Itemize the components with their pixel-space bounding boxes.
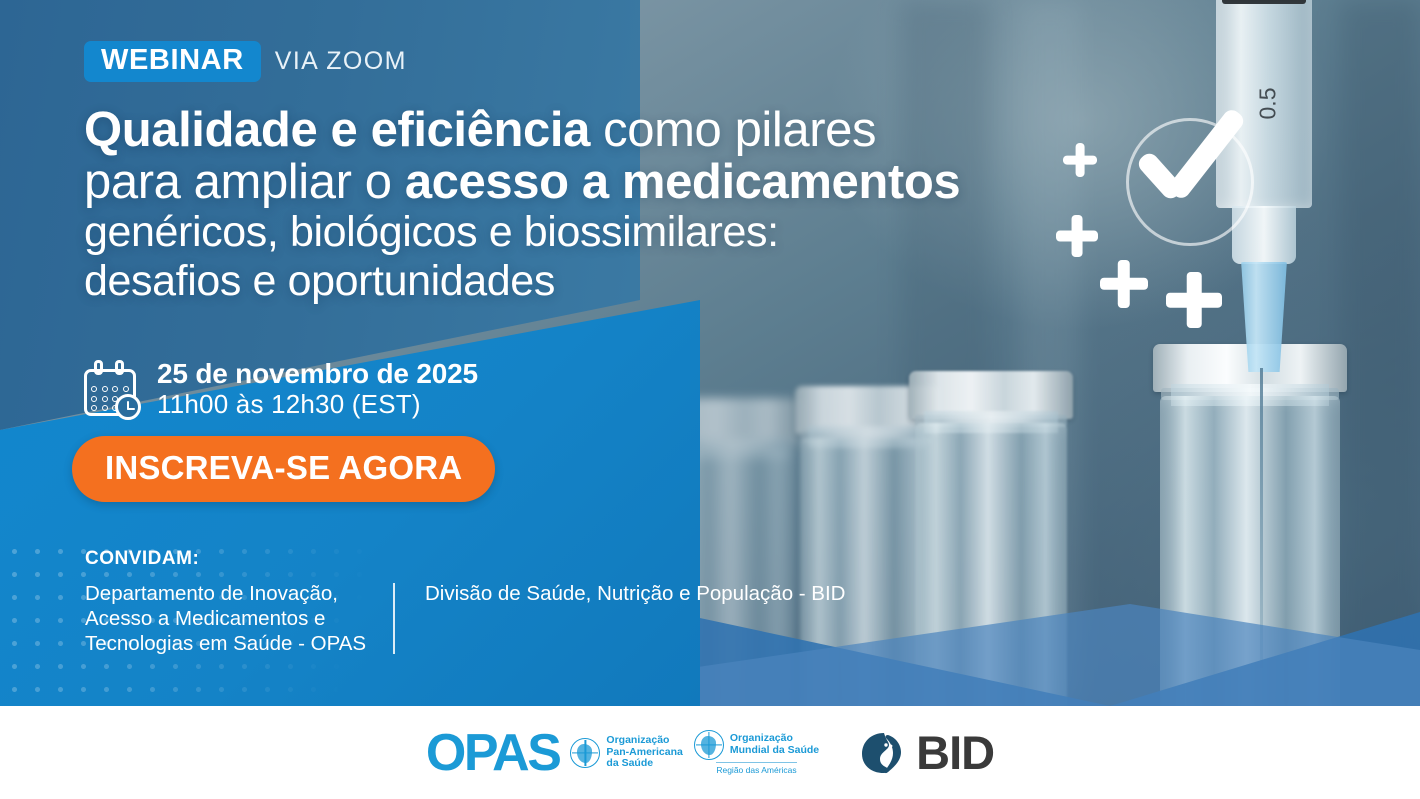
- title-line2-bold: acesso a medicamentos: [405, 155, 960, 209]
- paho-line-1: Organização: [606, 734, 669, 746]
- invite-block: CONVIDAM: Departamento de Inovação, Aces…: [85, 548, 845, 656]
- syringe-cone: [1238, 262, 1290, 372]
- bid-mark-icon: [861, 731, 907, 775]
- via-zoom-label: VIA ZOOM: [275, 47, 407, 76]
- title-line3: genéricos, biológicos e biossimilares:: [84, 208, 984, 257]
- title-line2-rest: para ampliar o: [84, 155, 405, 209]
- syringe-needle: [1260, 368, 1263, 668]
- paho-line-2: Pan-Americana: [606, 746, 682, 758]
- bid-logo: BID: [861, 729, 994, 776]
- paho-emblem-text: Organização Pan-Americana da Saúde: [606, 735, 682, 770]
- who-globe-icon: [694, 730, 724, 760]
- calendar-clock-icon: [82, 360, 140, 418]
- invite-header: CONVIDAM:: [85, 548, 845, 570]
- plus-icon: [1100, 260, 1148, 308]
- syringe-marking: 0.5: [1254, 88, 1281, 120]
- who-line-1: Organização: [730, 732, 793, 744]
- webinar-badge: WEBINAR: [84, 41, 261, 82]
- footer-logos: OPAS Organização Pan-Americana da Saúde …: [0, 706, 1420, 799]
- event-time: 11h00 às 12h30 (EST): [157, 389, 478, 420]
- event-date: 25 de novembro de 2025: [157, 358, 478, 389]
- opas-logo: OPAS Organização Pan-Americana da Saúde …: [426, 727, 819, 779]
- paho-emblem: Organização Pan-Americana da Saúde: [570, 735, 682, 770]
- organizers: Departamento de Inovação, Acesso a Medic…: [85, 581, 845, 656]
- organizer-opas: Departamento de Inovação, Acesso a Medic…: [85, 581, 385, 656]
- opas-wordmark: OPAS: [426, 727, 560, 779]
- plus-icon: [1166, 272, 1222, 328]
- who-emblem-text: Organização Mundial da Saúde: [730, 733, 819, 756]
- register-button[interactable]: INSCREVA-SE AGORA: [72, 436, 495, 502]
- content-column: WEBINAR VIA ZOOM Qualidade e eficiência …: [0, 0, 1000, 706]
- paho-line-3: da Saúde: [606, 757, 653, 769]
- page-title: Qualidade e eficiência como pilares para…: [84, 104, 984, 306]
- who-line-2: Mundial da Saúde: [730, 744, 819, 756]
- plus-icon: [1063, 143, 1097, 177]
- title-line4: desafios e oportunidades: [84, 257, 984, 306]
- bid-wordmark: BID: [916, 729, 994, 776]
- webinar-banner: 0.5 WEBINAR VIA ZOOM Qualidade e ef: [0, 0, 1420, 799]
- organizer-divider: [393, 583, 395, 654]
- organizer-bid: Divisão de Saúde, Nutrição e População -…: [425, 581, 845, 606]
- title-line1-rest: como pilares: [590, 103, 876, 157]
- globe-icon: [570, 738, 600, 768]
- who-emblem: Organização Mundial da Saúde Região das …: [694, 730, 819, 776]
- check-icon: [1136, 106, 1258, 216]
- eyebrow: WEBINAR VIA ZOOM: [84, 41, 407, 82]
- title-line1-bold: Qualidade e eficiência: [84, 103, 590, 157]
- syringe-plunger: [1222, 0, 1306, 4]
- plus-icon: [1056, 215, 1098, 257]
- who-region-label: Região das Américas: [716, 762, 796, 776]
- schedule-block: 25 de novembro de 2025 11h00 às 12h30 (E…: [82, 358, 478, 420]
